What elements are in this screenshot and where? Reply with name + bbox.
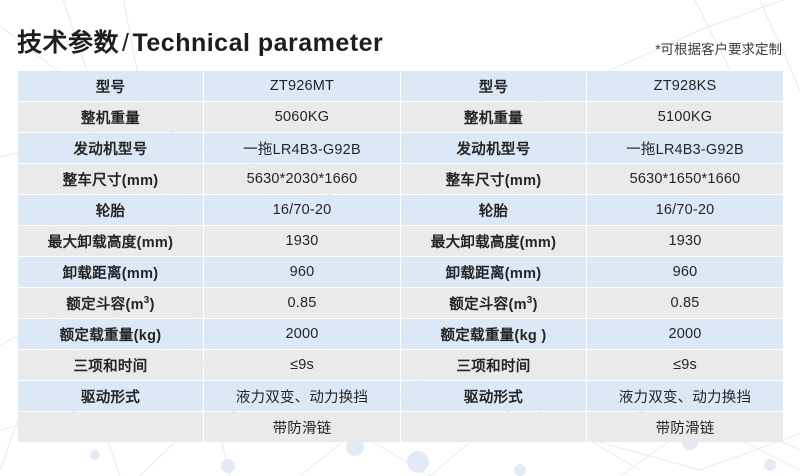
spec-value-cell: 2000 [204, 319, 400, 349]
table-row: 额定斗容(m3)0.85 [401, 288, 783, 318]
spec-label-cell: 发动机型号 [18, 133, 203, 163]
spec-label-cell: 驱动形式 [18, 381, 203, 411]
spec-table-right-body: 型号ZT928KS整机重量5100KG发动机型号一拖LR4B3-G92B整车尺寸… [401, 71, 783, 442]
table-row: 整机重量5060KG [18, 102, 400, 132]
spec-value-cell: 5060KG [204, 102, 400, 132]
page-title-en: Technical parameter [132, 29, 383, 57]
table-row: 轮胎16/70-20 [401, 195, 783, 225]
spec-value-cell: 液力双变、动力换挡 [204, 381, 400, 411]
spec-value-cell: 960 [204, 257, 400, 287]
table-row: 轮胎16/70-20 [18, 195, 400, 225]
table-row: 最大卸载高度(mm)1930 [18, 226, 400, 256]
spec-label-cell [401, 412, 586, 442]
spec-label-cell: 驱动形式 [401, 381, 586, 411]
spec-value-cell: 2000 [587, 319, 783, 349]
spec-label-cell: 最大卸载高度(mm) [18, 226, 203, 256]
spec-table-left: 型号ZT926MT整机重量5060KG发动机型号一拖LR4B3-G92B整车尺寸… [17, 70, 401, 443]
table-row: 带防滑链 [401, 412, 783, 442]
spec-label-cell: 卸载距离(mm) [18, 257, 203, 287]
spec-value-cell: 1930 [587, 226, 783, 256]
table-row: 额定斗容(m3)0.85 [18, 288, 400, 318]
spec-label-cell: 轮胎 [401, 195, 586, 225]
spec-label-cell [18, 412, 203, 442]
spec-value-cell: 16/70-20 [587, 195, 783, 225]
spec-value-cell: 5630*1650*1660 [587, 164, 783, 194]
table-row: 三项和时间≤9s [18, 350, 400, 380]
spec-label-cell: 型号 [18, 71, 203, 101]
spec-label-cell: 额定斗容(m3) [18, 288, 203, 318]
table-row: 卸载距离(mm)960 [18, 257, 400, 287]
spec-value-cell: 16/70-20 [204, 195, 400, 225]
table-row: 驱动形式液力双变、动力换挡 [401, 381, 783, 411]
spec-label-cell: 额定斗容(m3) [401, 288, 586, 318]
spec-value-cell: ≤9s [204, 350, 400, 380]
spec-value-cell: ≤9s [587, 350, 783, 380]
spec-value-cell: ZT926MT [204, 71, 400, 101]
table-row: 发动机型号一拖LR4B3-G92B [401, 133, 783, 163]
spec-value-cell: 5100KG [587, 102, 783, 132]
spec-value-cell: 带防滑链 [204, 412, 400, 442]
page-title-cn: 技术参数 [17, 29, 119, 57]
spec-value-cell: 一拖LR4B3-G92B [587, 133, 783, 163]
table-row: 最大卸载高度(mm)1930 [401, 226, 783, 256]
spec-label-cell: 额定载重量(kg ) [401, 319, 586, 349]
spec-value-cell: 1930 [204, 226, 400, 256]
table-row: 卸载距离(mm)960 [401, 257, 783, 287]
table-row: 三项和时间≤9s [401, 350, 783, 380]
page-title: 技术参数/Technical parameter [17, 23, 383, 59]
page-title-separator: / [119, 29, 132, 57]
spec-table-left-body: 型号ZT926MT整机重量5060KG发动机型号一拖LR4B3-G92B整车尺寸… [18, 71, 400, 442]
spec-value-cell: 0.85 [587, 288, 783, 318]
spec-label-cell: 三项和时间 [18, 350, 203, 380]
spec-label-cell: 整机重量 [18, 102, 203, 132]
table-row: 驱动形式液力双变、动力换挡 [18, 381, 400, 411]
spec-label-cell: 最大卸载高度(mm) [401, 226, 586, 256]
spec-label-cell: 轮胎 [18, 195, 203, 225]
spec-label-cell: 整车尺寸(mm) [18, 164, 203, 194]
table-row: 额定载重量(kg )2000 [401, 319, 783, 349]
spec-value-cell: 带防滑链 [587, 412, 783, 442]
spec-label-cell: 型号 [401, 71, 586, 101]
spec-label-cell: 额定载重量(kg) [18, 319, 203, 349]
spec-label-cell: 三项和时间 [401, 350, 586, 380]
spec-value-cell: 960 [587, 257, 783, 287]
table-row: 整车尺寸(mm)5630*1650*1660 [401, 164, 783, 194]
spec-label-cell: 发动机型号 [401, 133, 586, 163]
table-row: 额定载重量(kg)2000 [18, 319, 400, 349]
spec-value-cell: 液力双变、动力换挡 [587, 381, 783, 411]
spec-value-cell: 5630*2030*1660 [204, 164, 400, 194]
page-header: 技术参数/Technical parameter *可根据客户要求定制 [0, 0, 800, 70]
table-row: 整机重量5100KG [401, 102, 783, 132]
spec-label-cell: 整机重量 [401, 102, 586, 132]
table-row: 发动机型号一拖LR4B3-G92B [18, 133, 400, 163]
spec-value-cell: ZT928KS [587, 71, 783, 101]
spec-label-cell: 整车尺寸(mm) [401, 164, 586, 194]
table-row: 型号ZT928KS [401, 71, 783, 101]
table-row: 带防滑链 [18, 412, 400, 442]
spec-value-cell: 一拖LR4B3-G92B [204, 133, 400, 163]
customization-note: *可根据客户要求定制 [655, 38, 782, 58]
spec-value-cell: 0.85 [204, 288, 400, 318]
table-row: 整车尺寸(mm)5630*2030*1660 [18, 164, 400, 194]
spec-table-right: 型号ZT928KS整机重量5100KG发动机型号一拖LR4B3-G92B整车尺寸… [400, 70, 784, 443]
spec-label-cell: 卸载距离(mm) [401, 257, 586, 287]
table-row: 型号ZT926MT [18, 71, 400, 101]
